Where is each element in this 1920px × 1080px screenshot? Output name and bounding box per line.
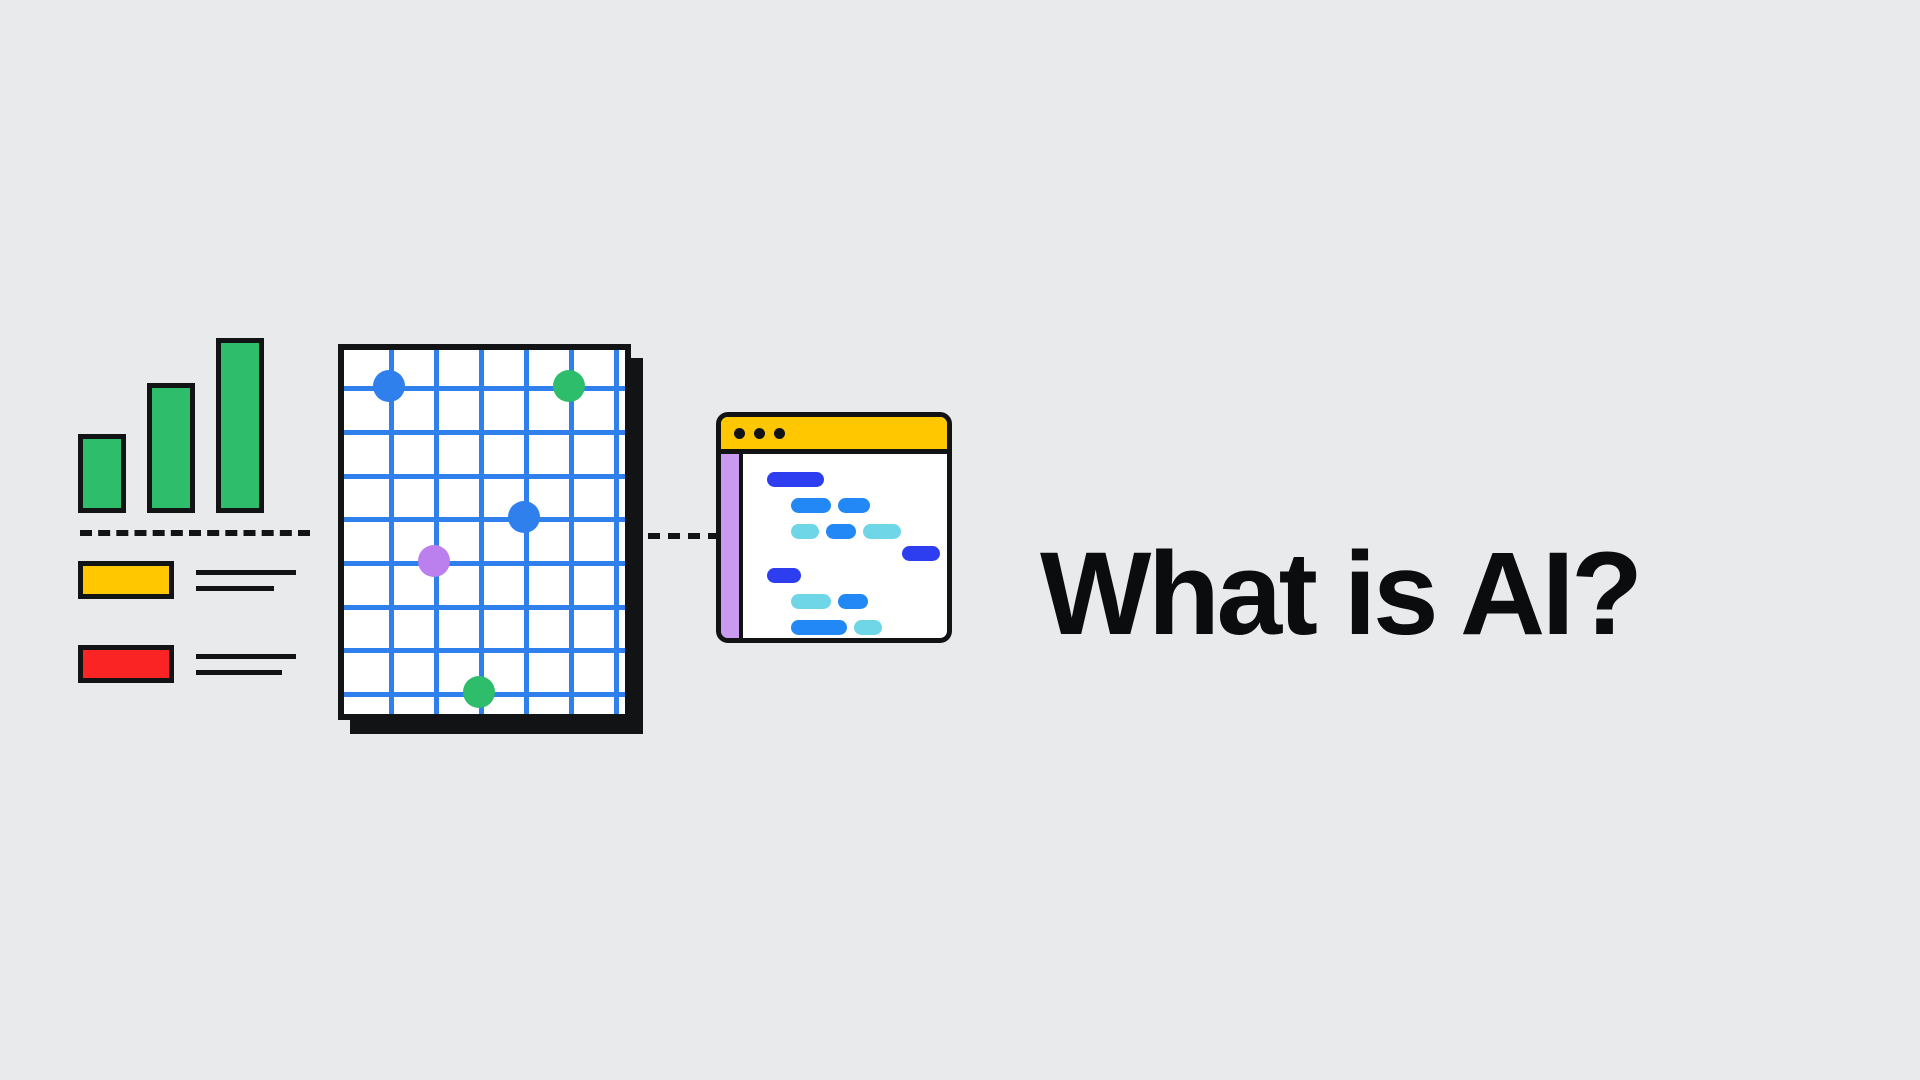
scatter-point-purple-dot-1 [418,545,450,577]
code-row-3 [791,524,901,539]
code-window-sidebar [721,454,743,638]
legend-swatch-yellow [78,561,174,599]
code-row-3-token-3 [863,524,901,539]
legend-lines-red [196,654,296,675]
grid-line-horizontal-2 [344,430,625,435]
code-row-7-token-2 [854,620,882,635]
page-title: What is AI? [1040,535,1640,653]
scatter-point-blue-dot-2 [508,501,540,533]
grid-line-horizontal-5 [344,561,625,566]
code-row-2-token-1 [791,498,831,513]
grid-line-horizontal-6 [344,605,625,610]
code-row-6 [791,594,868,609]
grid-line-horizontal-4 [344,517,625,522]
illustration-canvas: What is AI? [0,0,1920,1080]
scatter-point-blue-dot-1 [373,370,405,402]
code-row-5-token-1 [767,568,801,583]
legend-line-red-1 [196,654,296,659]
grid-line-vertical-1 [389,350,394,714]
bar-chart [78,338,278,513]
bar-chart-bar-2 [147,383,195,513]
dashed-rule-left [80,530,310,536]
legend-row-yellow [78,561,296,599]
code-row-7 [791,620,882,635]
legend-line-yellow-1 [196,570,296,575]
window-minimize-dot-icon[interactable] [754,428,765,439]
dashed-connector [648,533,720,539]
code-window [716,412,952,643]
code-row-5 [767,568,801,583]
code-row-1-token-1 [767,472,824,487]
grid-line-vertical-5 [569,350,574,714]
legend-line-yellow-2 [196,586,274,591]
legend-lines-yellow [196,570,296,591]
grid-line-vertical-3 [479,350,484,714]
code-window-titlebar [721,417,947,454]
scatter-grid-card [338,344,643,734]
grid-line-horizontal-7 [344,648,625,653]
scatter-grid-sheet [338,344,631,720]
scatter-plot-area [344,350,625,714]
code-row-2 [791,498,870,513]
code-row-3-token-2 [826,524,856,539]
scatter-point-green-dot-2 [463,676,495,708]
code-row-7-token-1 [791,620,847,635]
bar-chart-bar-3 [216,338,264,513]
grid-line-vertical-6 [614,350,619,714]
code-row-1 [767,472,824,487]
code-row-4-token-1 [902,546,940,561]
grid-line-horizontal-3 [344,474,625,479]
code-row-4 [902,546,940,561]
code-window-body [747,454,947,638]
code-row-3-token-1 [791,524,819,539]
legend-line-red-2 [196,670,282,675]
code-row-6-token-1 [791,594,831,609]
grid-line-vertical-2 [434,350,439,714]
window-maximize-dot-icon[interactable] [774,428,785,439]
legend-swatch-red [78,645,174,683]
code-row-6-token-2 [838,594,868,609]
bar-chart-bar-1 [78,434,126,513]
window-close-dot-icon[interactable] [734,428,745,439]
scatter-point-green-dot-1 [553,370,585,402]
legend-row-red [78,645,296,683]
code-row-2-token-2 [838,498,870,513]
